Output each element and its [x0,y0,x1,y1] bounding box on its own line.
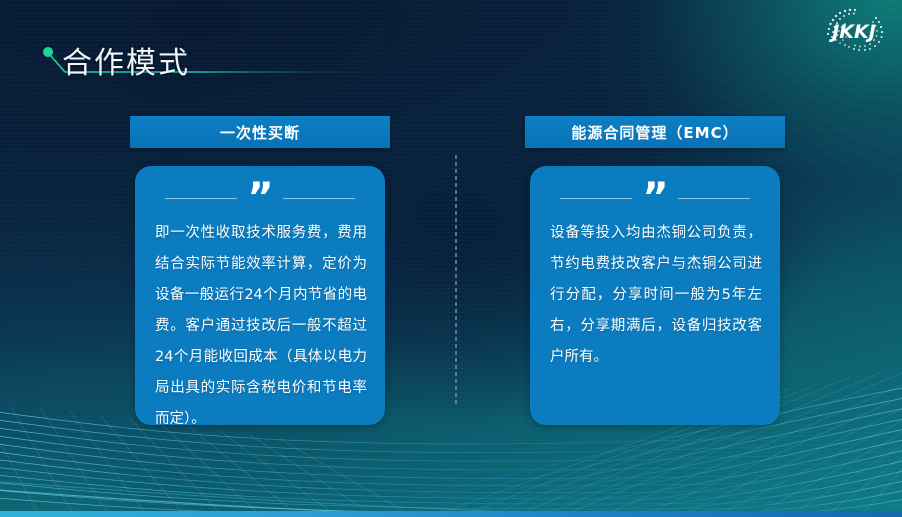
quote-decoration-right: ” [530,180,780,216]
quote-mark-icon: ” [247,187,272,209]
card-text-right: 设备等投入均由杰铜公司负责，节约电费技改客户与杰铜公司进行分配，分享时间一般为5… [550,218,762,373]
slide-canvas: JKKJ 合作模式 一次性买断 ” 即一 [0,0,902,517]
card-body-right: ” 设备等投入均由杰铜公司负责，节约电费技改客户与杰铜公司进行分配，分享时间一般… [530,166,780,425]
card-header-left[interactable]: 一次性买断 [130,116,390,148]
column-divider [455,155,457,407]
page-title: 合作模式 [62,38,190,82]
card-header-right[interactable]: 能源合同管理（EMC） [525,116,785,148]
quote-decoration-left: ” [135,180,385,216]
bottom-accent-strip [0,511,902,517]
page-title-group: 合作模式 [40,42,370,88]
quote-line-right [283,198,355,199]
quote-line-left [560,198,632,199]
logo-text: JKKJ [828,21,876,43]
quote-line-left [165,198,237,199]
quote-mark-icon: ” [642,187,667,209]
card-body-left: ” 即一次性收取技术服务费，费用结合实际节能效率计算，定价为设备一般运行24个月… [135,166,385,425]
quote-line-right [678,198,750,199]
jkkj-logo: JKKJ [818,4,890,60]
card-text-left: 即一次性收取技术服务费，费用结合实际节能效率计算，定价为设备一般运行24个月内节… [155,218,367,435]
